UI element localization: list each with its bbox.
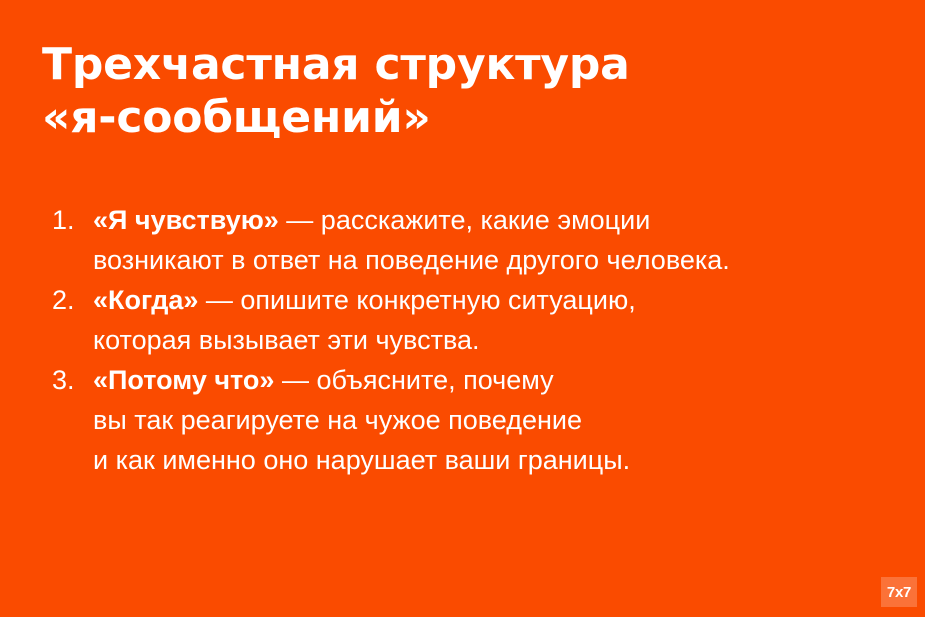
- list-item-line-rest: — опишите конкретную ситуацию,: [198, 285, 635, 315]
- logo-watermark-label: 7x7: [887, 585, 911, 600]
- list-item-marker: 2.: [52, 280, 93, 320]
- list-item-lead: «Потому что»: [93, 365, 274, 395]
- list-item: 1. «Я чувствую» — расскажите, какие эмоц…: [52, 200, 902, 280]
- list-item-line: вы так реагируете на чужое поведение: [93, 400, 902, 440]
- title-line-1: Трехчастная структура: [42, 38, 882, 91]
- list-item-line: «Я чувствую» — расскажите, какие эмоции: [93, 200, 902, 240]
- list-item-line-rest: — объясните, почему: [274, 365, 553, 395]
- list-item-body: «Я чувствую» — расскажите, какие эмоции …: [93, 200, 902, 280]
- list-item-line-rest: — расскажите, какие эмоции: [279, 205, 651, 235]
- list-item-marker: 3.: [52, 360, 93, 400]
- list-item-line: и как именно оно нарушает ваши границы.: [93, 440, 902, 480]
- title-line-2: «я-сообщений»: [42, 91, 882, 144]
- list-item: 2. «Когда» — опишите конкретную ситуацию…: [52, 280, 902, 360]
- list-item-body: «Потому что» — объясните, почему вы так …: [93, 360, 902, 480]
- list-item-line: которая вызывает эти чувства.: [93, 320, 902, 360]
- list-item: 3. «Потому что» — объясните, почему вы т…: [52, 360, 902, 480]
- logo-watermark: 7x7: [881, 577, 917, 607]
- numbered-list: 1. «Я чувствую» — расскажите, какие эмоц…: [52, 200, 902, 480]
- page-title: Трехчастная структура «я-сообщений»: [42, 38, 882, 144]
- list-item-marker: 1.: [52, 200, 93, 240]
- list-item-line: возникают в ответ на поведение другого ч…: [93, 240, 902, 280]
- list-item-line: «Когда» — опишите конкретную ситуацию,: [93, 280, 902, 320]
- slide-canvas: Трехчастная структура «я-сообщений» 1. «…: [0, 0, 925, 617]
- list-item-lead: «Я чувствую»: [93, 205, 279, 235]
- list-item-body: «Когда» — опишите конкретную ситуацию, к…: [93, 280, 902, 360]
- list-item-line: «Потому что» — объясните, почему: [93, 360, 902, 400]
- list-item-lead: «Когда»: [93, 285, 198, 315]
